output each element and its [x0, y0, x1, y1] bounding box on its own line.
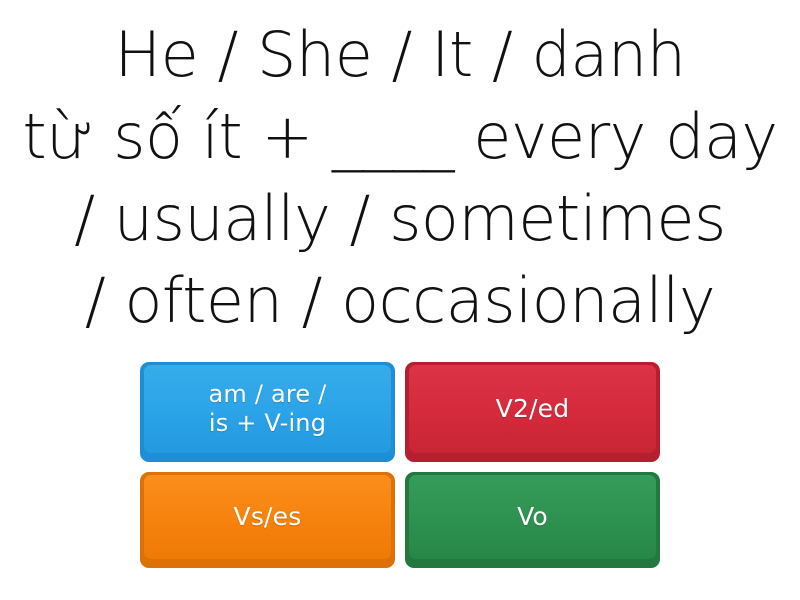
answer-option-3-label: Vs/es [234, 502, 302, 532]
answer-option-1-face: am / are / is + V-ing [144, 365, 391, 453]
answer-option-2-label: V2/ed [496, 394, 570, 424]
answer-option-1[interactable]: am / are / is + V-ing [140, 362, 395, 462]
answer-option-2-face: V2/ed [409, 365, 656, 453]
question-prompt: He / She / It / danh từ số ít + ____ eve… [0, 14, 800, 342]
answer-option-3[interactable]: Vs/es [140, 472, 395, 568]
answer-option-4-face: Vo [409, 475, 656, 559]
answer-option-3-face: Vs/es [144, 475, 391, 559]
answer-option-1-label: am / are / is + V-ing [209, 380, 327, 438]
answer-option-4-label: Vo [517, 502, 548, 532]
answer-option-2[interactable]: V2/ed [405, 362, 660, 462]
answer-grid: am / are / is + V-ing V2/ed Vs/es Vo [140, 362, 660, 568]
quiz-stage: He / She / It / danh từ số ít + ____ eve… [0, 0, 800, 600]
answer-option-4[interactable]: Vo [405, 472, 660, 568]
